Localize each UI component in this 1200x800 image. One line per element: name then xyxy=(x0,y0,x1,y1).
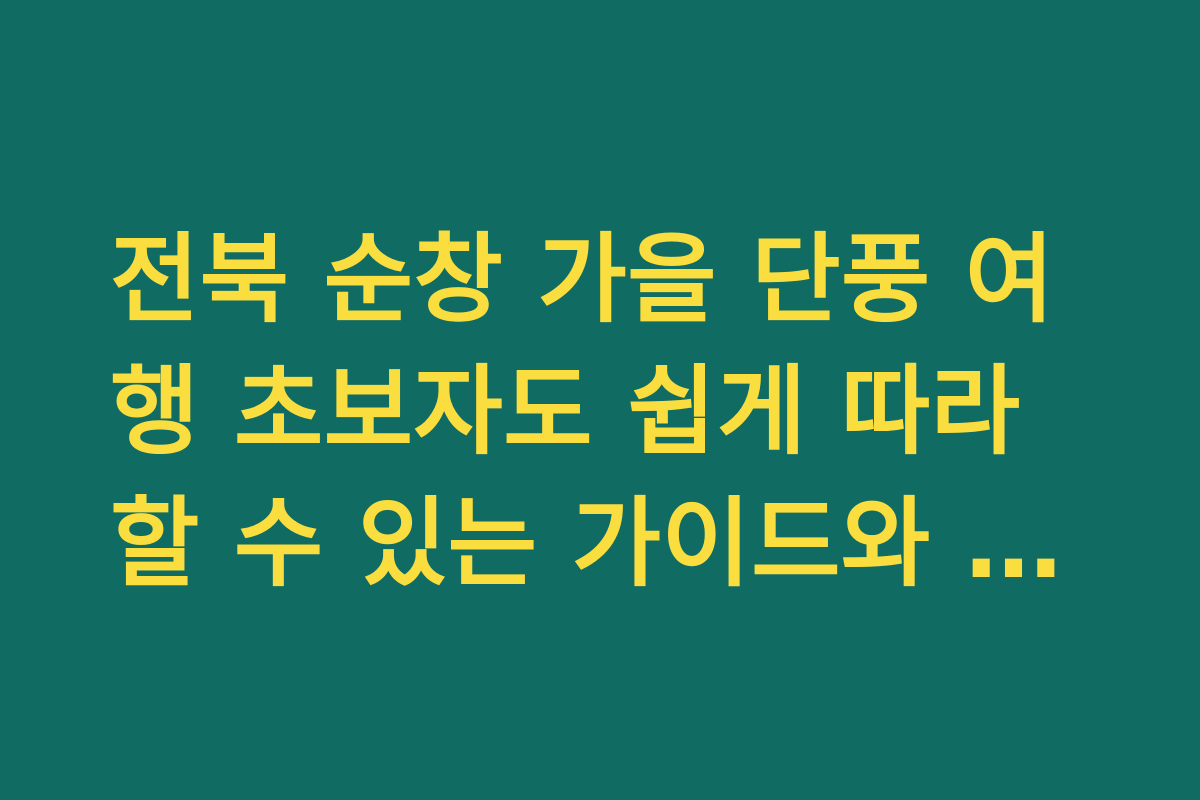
headline-line-3: 할 수 있는 가이드와 … xyxy=(110,478,1100,610)
headline-line-1: 전북 순창 가을 단풍 여 xyxy=(110,214,1100,346)
text-card: 전북 순창 가을 단풍 여 행 초보자도 쉽게 따라 할 수 있는 가이드와 … xyxy=(0,0,1200,800)
headline-line-2: 행 초보자도 쉽게 따라 xyxy=(110,346,1100,478)
headline-block: 전북 순창 가을 단풍 여 행 초보자도 쉽게 따라 할 수 있는 가이드와 … xyxy=(110,214,1100,610)
